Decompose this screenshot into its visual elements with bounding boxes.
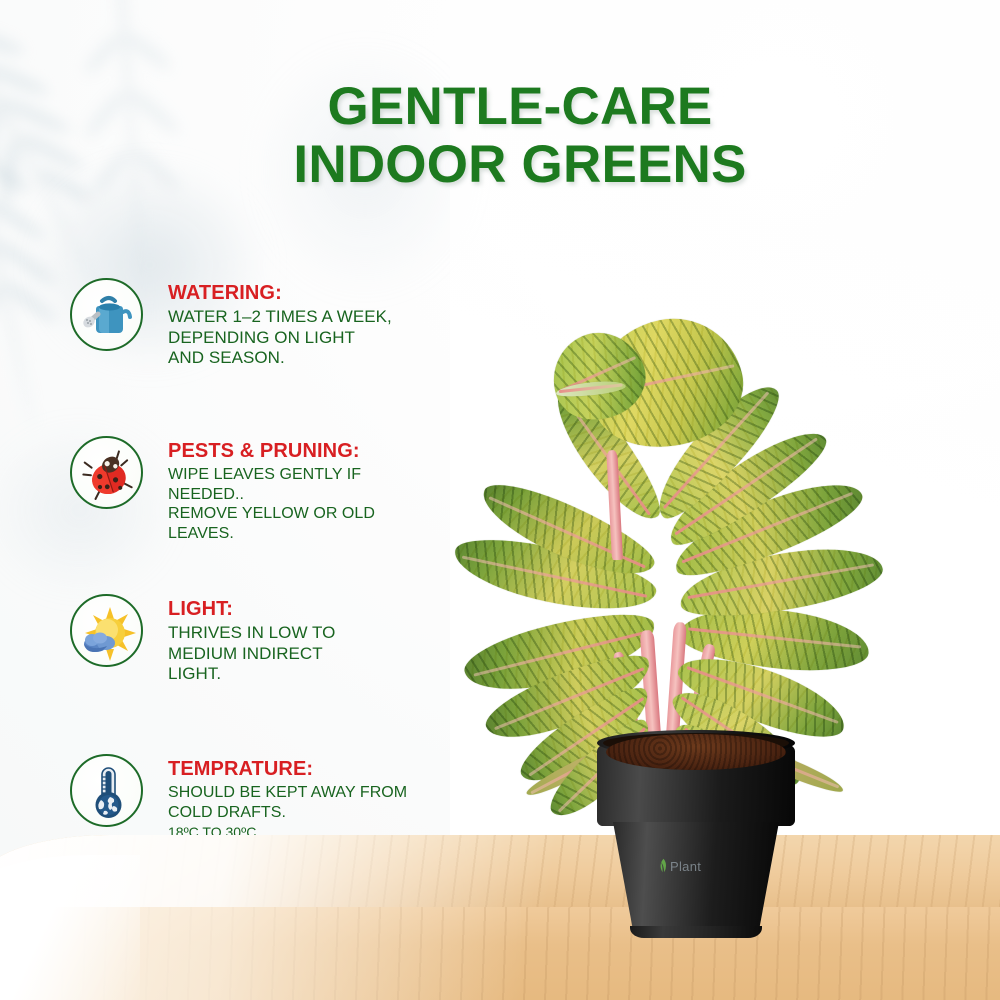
- plant-pot: Plant: [597, 730, 795, 935]
- ladybug-icon: [80, 446, 137, 503]
- pot-brand-name: Plant: [670, 859, 701, 874]
- title-line-2: INDOOR GREENS: [210, 136, 830, 194]
- sun-cloud-icon: [80, 604, 137, 661]
- thermometer-globe-icon: [80, 764, 137, 821]
- light-badge: [70, 594, 143, 667]
- pot-body: [613, 822, 779, 930]
- title-line-1: GENTLE-CARE: [328, 77, 713, 136]
- watering-badge: [70, 278, 143, 351]
- poster-canvas: GENTLE-CARE INDOOR GREENS WAT: [0, 0, 1000, 1000]
- pot-base: [630, 926, 762, 938]
- watering-can-icon: [80, 288, 137, 345]
- pests-badge: [70, 436, 143, 509]
- potting-soil: [606, 734, 786, 770]
- leaf-logo-icon: [659, 858, 668, 874]
- temperature-badge: [70, 754, 143, 827]
- pot-brand-logo: Plant: [659, 858, 701, 874]
- table-left-glare: [0, 855, 140, 1000]
- page-title: GENTLE-CARE INDOOR GREENS: [210, 78, 830, 194]
